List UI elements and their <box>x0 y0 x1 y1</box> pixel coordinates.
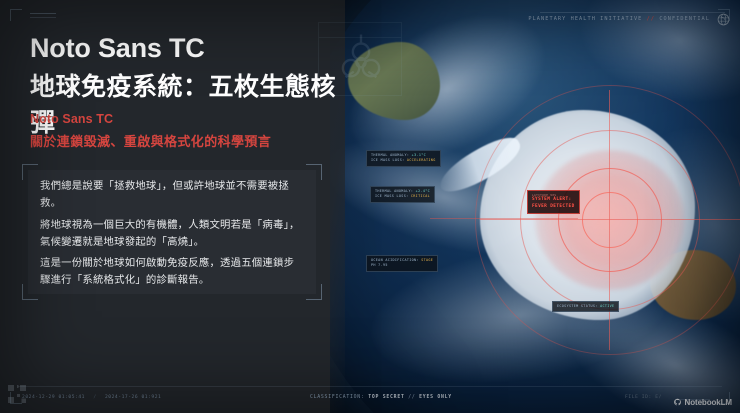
body-text-box: 我們總是說要「拯救地球」，但或許地球並不需要被拯救。 將地球視為一個巨大的有機體… <box>28 170 316 294</box>
timestamp-divider: / <box>93 395 96 400</box>
page-subtitle: 關於連鎖毀滅、重啟與格式化的科學預言 <box>30 131 271 150</box>
tag-label: OCEAN ACIDIFICATION: <box>371 258 419 262</box>
tag-value: +2.4°C <box>416 189 430 193</box>
classification-label: CLASSIFICATION: <box>310 395 365 400</box>
classification-separator: // <box>408 395 415 400</box>
tag-value: +3.1°C <box>412 153 426 157</box>
tag-label: PH 7.95 <box>371 263 388 267</box>
footer-classification: CLASSIFICATION: TOP SECRET // EYES ONLY <box>310 395 452 400</box>
footer-rule <box>18 386 722 387</box>
body-panel: 我們總是說要「拯救地球」，但或許地球並不需要被拯救。 將地球視為一個巨大的有機體… <box>22 164 322 300</box>
tag-value: ACTIVE <box>600 304 614 308</box>
tag-value: STAGE <box>421 258 433 262</box>
globe-icon <box>717 13 730 26</box>
alert-line-2: FEVER DETECTED <box>532 204 575 211</box>
tag-label: ECOSYSTEM STATUS: <box>557 304 598 308</box>
crosshair-horizontal <box>480 219 740 220</box>
subtitle-font-name-en: Noto Sans TC <box>30 112 113 126</box>
classification-scope: EYES ONLY <box>419 395 452 400</box>
page-title: 地球免疫系統：五枚生態核彈 <box>30 67 345 139</box>
ecosystem-status-tag: ECOSYSTEM STATUS: ACTIVE <box>552 301 619 312</box>
title-font-name-en: Noto Sans TC <box>30 33 205 64</box>
content-column: Noto Sans TC 地球免疫系統：五枚生態核彈 Noto Sans TC … <box>0 0 345 413</box>
notebooklm-logo-icon <box>673 398 682 407</box>
body-paragraph: 這是一份關於地球如何啟動免疫反應，透過五個連鎖步驟進行「系統格式化」的診斷報告。 <box>40 256 304 290</box>
body-paragraph: 我們總是說要「拯救地球」，但或許地球並不需要被拯救。 <box>40 179 304 213</box>
frame-corner-tick <box>10 392 22 404</box>
body-paragraph: 將地球視為一個巨大的有機體，人類文明若是「病毒」，氣候變遷就是地球發起的「高燒」… <box>40 218 304 252</box>
system-alert-tag: LATITUDE 90S SYSTEM ALERT: FEVER DETECTE… <box>527 190 580 214</box>
notebooklm-brand: NotebookLM <box>673 398 732 407</box>
timestamp-secondary: 2024-17-26 01:921 <box>105 395 161 400</box>
tag-label: THERMAL ANOMALY: <box>375 189 413 193</box>
frame-corner-tick <box>10 9 22 21</box>
targeting-ring <box>582 192 638 248</box>
thermal-anomaly-tag: THERMAL ANOMALY: +2.4°C ICE MASS LOSS: C… <box>370 186 435 203</box>
leader-line <box>430 218 578 219</box>
tag-value: CRITICAL <box>411 194 430 198</box>
footer-timestamps: 2024-12-29 01:05:41 / 2024-17-26 01:921 <box>22 395 161 400</box>
tag-value: ACCELERATING <box>407 158 436 162</box>
decor-rule <box>30 17 56 18</box>
header-confidential-label: CONFIDENTIAL <box>659 16 710 22</box>
tag-label: THERMAL ANOMALY: <box>371 153 409 157</box>
thermal-secondary-tag: THERMAL ANOMALY: +3.1°C ICE MASS LOSS: A… <box>366 150 441 167</box>
header-initiative-label: PLANETARY HEALTH INITIATIVE <box>528 16 642 22</box>
slide-canvas: THERMAL ANOMALY: +2.4°C ICE MASS LOSS: C… <box>0 0 740 413</box>
header-classification: PLANETARY HEALTH INITIATIVE // CONFIDENT… <box>528 16 710 22</box>
tag-label: ICE MASS LOSS: <box>375 194 408 198</box>
ocean-acidification-tag: OCEAN ACIDIFICATION: STAGE PH 7.95 <box>366 255 438 272</box>
header-rule <box>540 12 725 13</box>
classification-value: TOP SECRET <box>368 395 404 400</box>
brand-name: NotebookLM <box>685 398 732 407</box>
footer-file-id: FILE ID: E/ <box>625 395 662 400</box>
tag-label: ICE MASS LOSS: <box>371 158 404 162</box>
header-separator: // <box>647 16 655 22</box>
timestamp-primary: 2024-12-29 01:05:41 <box>22 395 85 400</box>
decor-rule <box>30 13 56 14</box>
